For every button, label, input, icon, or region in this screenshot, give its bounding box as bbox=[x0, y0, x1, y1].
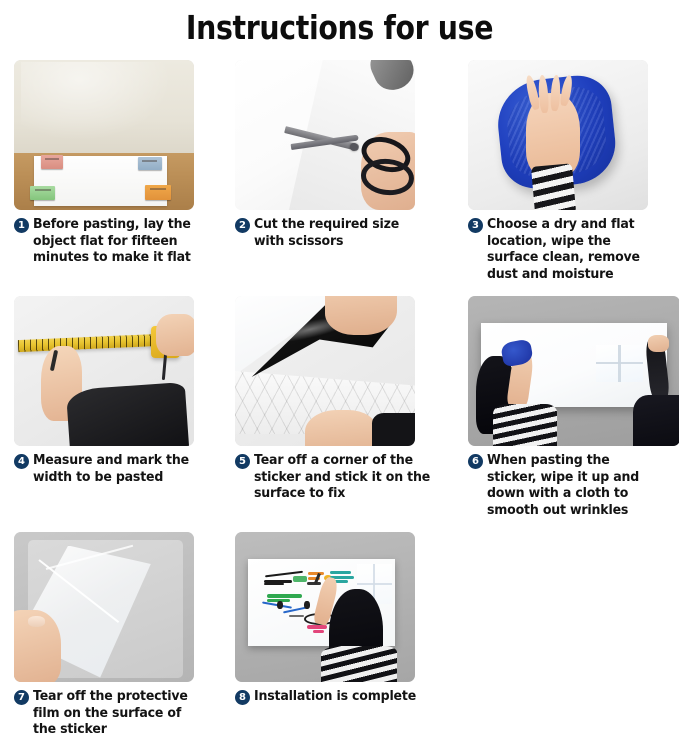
step-badge-8: 8 bbox=[235, 690, 250, 705]
photo-scissors-cutting bbox=[235, 60, 415, 210]
instruction-steps-grid: 1 Before pasting, lay the object flat fo… bbox=[0, 60, 679, 738]
page-title: Instructions for use bbox=[48, 0, 632, 44]
step-text-5: Tear off a corner of the sticker and sti… bbox=[254, 452, 433, 502]
ink-word bbox=[313, 630, 325, 633]
ink-figure bbox=[304, 601, 310, 610]
striped-sleeve bbox=[531, 163, 576, 210]
ink-connector bbox=[283, 607, 307, 614]
step-badge-5: 5 bbox=[235, 454, 250, 469]
photo-hand-wiping-blue-cloth bbox=[468, 60, 648, 210]
step-badge-7: 7 bbox=[14, 690, 29, 705]
step-text-8: Installation is complete bbox=[254, 688, 416, 705]
step-text-3: Choose a dry and flat location, wipe the… bbox=[487, 216, 660, 282]
scissors-pivot bbox=[350, 143, 358, 151]
step-text-1: Before pasting, lay the object flat for … bbox=[33, 216, 207, 266]
photo-tape-measure-wall bbox=[14, 296, 194, 446]
person-left-striped-shirt bbox=[493, 404, 557, 446]
step-badge-6: 6 bbox=[468, 454, 483, 469]
step-card-1: 1 Before pasting, lay the object flat fo… bbox=[0, 60, 226, 282]
step-caption-6: 6 When pasting the sticker, wipe it up a… bbox=[468, 452, 675, 518]
ink-word bbox=[264, 583, 285, 585]
ink-figure bbox=[277, 601, 283, 610]
step-caption-8: 8 Installation is complete bbox=[235, 688, 448, 705]
step-text-4: Measure and mark the width to be pasted bbox=[33, 452, 207, 485]
step-caption-7: 7 Tear off the protective film on the su… bbox=[14, 688, 222, 738]
step-row-3: 7 Tear off the protective film on the su… bbox=[0, 532, 679, 738]
orange-weight bbox=[145, 185, 170, 200]
ink-word bbox=[330, 571, 351, 574]
step-badge-1: 1 bbox=[14, 218, 29, 233]
step-caption-5: 5 Tear off a corner of the sticker and s… bbox=[235, 452, 448, 502]
ink-word-teamwork bbox=[267, 594, 302, 598]
step-badge-3: 3 bbox=[468, 218, 483, 233]
woman-striped-shirt bbox=[321, 646, 397, 682]
step-card-3: 3 Choose a dry and flat location, wipe t… bbox=[452, 60, 679, 282]
photo-woman-writing-whiteboard bbox=[235, 532, 415, 682]
step-caption-2: 2 Cut the required size with scissors bbox=[235, 216, 448, 249]
step-badge-4: 4 bbox=[14, 454, 29, 469]
photo-two-people-mounting-board bbox=[468, 296, 679, 446]
step-text-7: Tear off the protective film on the surf… bbox=[33, 688, 207, 738]
step-card-6: 6 When pasting the sticker, wipe it up a… bbox=[452, 296, 679, 518]
fingernail bbox=[28, 616, 44, 627]
lower-hand bbox=[305, 410, 377, 446]
step-row-1: 1 Before pasting, lay the object flat fo… bbox=[0, 60, 679, 282]
step-card-2: 2 Cut the required size with scissors bbox=[226, 60, 452, 282]
person-right-body bbox=[633, 395, 679, 446]
black-sleeve bbox=[372, 413, 415, 446]
black-sleeve bbox=[66, 382, 189, 446]
ink-marks bbox=[307, 582, 322, 585]
step-row-2: 4 Measure and mark the width to be paste… bbox=[0, 296, 679, 518]
wall-background bbox=[14, 60, 194, 153]
ink-connector bbox=[289, 615, 304, 617]
ink-cart-icon bbox=[293, 576, 306, 583]
window-reflection bbox=[596, 345, 643, 382]
step-card-empty bbox=[452, 532, 679, 738]
photo-peeling-corner-backing bbox=[235, 296, 415, 446]
right-hand bbox=[156, 314, 194, 356]
green-weight bbox=[30, 186, 55, 200]
step-card-7: 7 Tear off the protective film on the su… bbox=[0, 532, 226, 738]
step-card-5: 5 Tear off a corner of the sticker and s… bbox=[226, 296, 452, 518]
photo-desk-flat-sheet bbox=[14, 60, 194, 210]
step-text-2: Cut the required size with scissors bbox=[254, 216, 433, 249]
hand bbox=[526, 93, 580, 176]
ink-word-time bbox=[307, 625, 328, 629]
step-caption-1: 1 Before pasting, lay the object flat fo… bbox=[14, 216, 222, 266]
step-text-6: When pasting the sticker, wipe it up and… bbox=[487, 452, 660, 518]
step-card-8: 8 Installation is complete bbox=[226, 532, 452, 738]
photo-peeling-protective-film bbox=[14, 532, 194, 682]
step-badge-2: 2 bbox=[235, 218, 250, 233]
blue-weight bbox=[138, 157, 161, 171]
step-card-4: 4 Measure and mark the width to be paste… bbox=[0, 296, 226, 518]
step-caption-4: 4 Measure and mark the width to be paste… bbox=[14, 452, 222, 485]
pink-weight bbox=[41, 155, 63, 169]
person-right-hand bbox=[648, 335, 669, 352]
step-caption-3: 3 Choose a dry and flat location, wipe t… bbox=[468, 216, 675, 282]
